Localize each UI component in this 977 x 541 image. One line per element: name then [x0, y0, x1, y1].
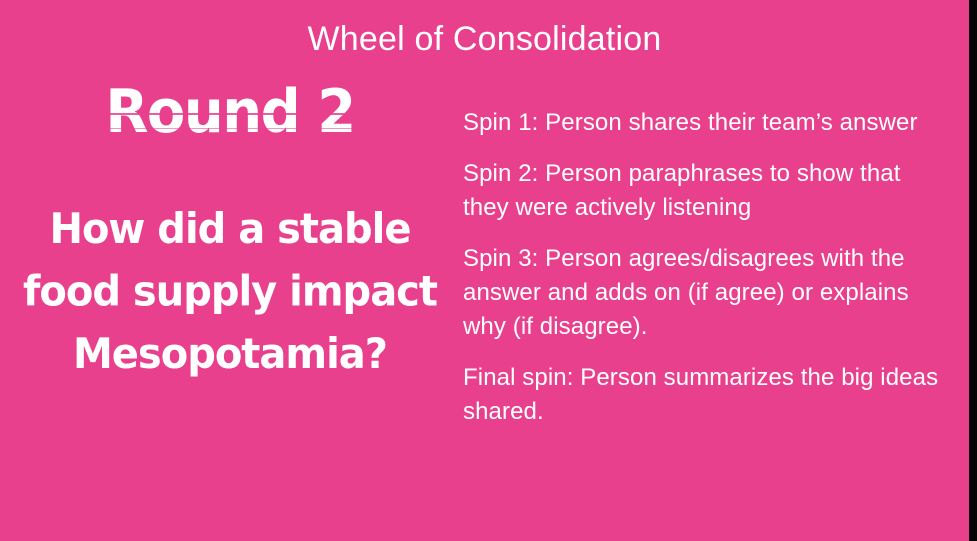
round-label: Round 2 — [105, 80, 354, 146]
slide-canvas: Wheel of Consolidation Round 2 How did a… — [0, 0, 977, 541]
instructions-list: Spin 1: Person shares their team’s answe… — [463, 106, 953, 429]
page-title: Wheel of Consolidation — [0, 19, 969, 59]
instruction-spin-3: Spin 3: Person agrees/disagrees with the… — [463, 242, 953, 344]
right-edge-strip — [969, 0, 977, 541]
question-prompt: How did a stable food supply impact Meso… — [10, 198, 450, 385]
instruction-spin-1: Spin 1: Person shares their team’s answe… — [463, 106, 953, 140]
instruction-final-spin: Final spin: Person summarizes the big id… — [463, 361, 953, 429]
instruction-spin-2: Spin 2: Person paraphrases to show that … — [463, 157, 953, 225]
left-column: Round 2 How did a stable food supply imp… — [10, 82, 450, 382]
